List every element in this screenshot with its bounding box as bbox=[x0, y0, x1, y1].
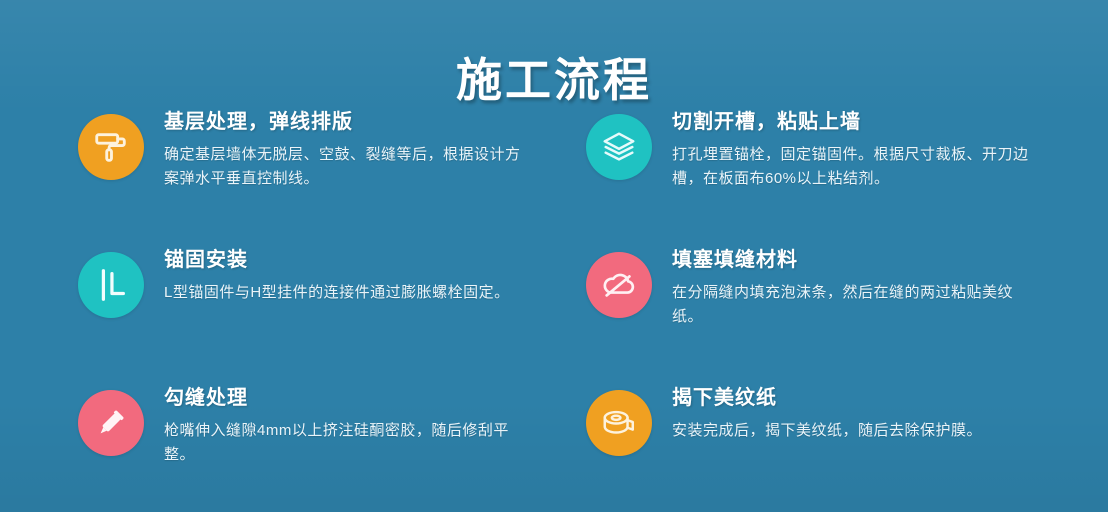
step-badge-3 bbox=[78, 252, 144, 318]
process-step-1: 基层处理，弹线排版 确定基层墙体无脱层、空鼓、裂缝等后，根据设计方案弹水平垂直控… bbox=[78, 108, 530, 224]
caulking-gun-icon bbox=[92, 404, 130, 442]
step-badge-1 bbox=[78, 114, 144, 180]
step-desc-1: 确定基层墙体无脱层、空鼓、裂缝等后，根据设计方案弹水平垂直控制线。 bbox=[164, 143, 524, 192]
step-badge-2 bbox=[586, 114, 652, 180]
step-title-5: 勾缝处理 bbox=[164, 386, 530, 410]
step-body-6: 揭下美纹纸 安装完成后，揭下美纹纸，随后去除保护膜。 bbox=[672, 384, 1038, 443]
page-title: 施工流程 bbox=[456, 55, 652, 106]
step-title-4: 填塞填缝材料 bbox=[672, 248, 1038, 272]
tape-roll-icon bbox=[600, 404, 638, 442]
step-title-3: 锚固安装 bbox=[164, 248, 530, 272]
step-title-6: 揭下美纹纸 bbox=[672, 386, 1038, 410]
step-body-5: 勾缝处理 枪嘴伸入缝隙4mm以上挤注硅酮密胶，随后修刮平整。 bbox=[164, 384, 530, 468]
step-desc-6: 安装完成后，揭下美纹纸，随后去除保护膜。 bbox=[672, 419, 1032, 443]
paint-roller-icon bbox=[92, 128, 130, 166]
layers-icon bbox=[600, 128, 638, 166]
process-step-6: 揭下美纹纸 安装完成后，揭下美纹纸，随后去除保护膜。 bbox=[586, 384, 1038, 500]
step-body-2: 切割开槽，粘贴上墙 打孔埋置锚栓，固定锚固件。根据尺寸裁板、开刀边槽，在板面布6… bbox=[672, 108, 1038, 192]
step-badge-4 bbox=[586, 252, 652, 318]
step-title-1: 基层处理，弹线排版 bbox=[164, 110, 530, 134]
step-title-2: 切割开槽，粘贴上墙 bbox=[672, 110, 1038, 134]
step-desc-2: 打孔埋置锚栓，固定锚固件。根据尺寸裁板、开刀边槽，在板面布60%以上粘结剂。 bbox=[672, 143, 1032, 192]
step-body-1: 基层处理，弹线排版 确定基层墙体无脱层、空鼓、裂缝等后，根据设计方案弹水平垂直控… bbox=[164, 108, 530, 192]
process-step-grid: 基层处理，弹线排版 确定基层墙体无脱层、空鼓、裂缝等后，根据设计方案弹水平垂直控… bbox=[78, 108, 1038, 500]
process-step-2: 切割开槽，粘贴上墙 打孔埋置锚栓，固定锚固件。根据尺寸裁板、开刀边槽，在板面布6… bbox=[586, 108, 1038, 224]
step-badge-5 bbox=[78, 390, 144, 456]
step-body-3: 锚固安装 L型锚固件与H型挂件的连接件通过膨胀螺栓固定。 bbox=[164, 246, 530, 305]
process-step-5: 勾缝处理 枪嘴伸入缝隙4mm以上挤注硅酮密胶，随后修刮平整。 bbox=[78, 384, 530, 500]
bottom-white-strip bbox=[0, 512, 1108, 518]
step-desc-5: 枪嘴伸入缝隙4mm以上挤注硅酮密胶，随后修刮平整。 bbox=[164, 419, 524, 468]
process-step-3: 锚固安装 L型锚固件与H型挂件的连接件通过膨胀螺栓固定。 bbox=[78, 246, 530, 362]
step-badge-6 bbox=[586, 390, 652, 456]
construction-process-poster: 施工流程 基层处理，弹线排版 确定基层墙体无脱层、空鼓、裂缝等后，根据设计方案弹… bbox=[0, 0, 1108, 512]
process-step-4: 填塞填缝材料 在分隔缝内填充泡沫条，然后在缝的两过粘贴美纹纸。 bbox=[586, 246, 1038, 362]
cloud-off-icon bbox=[600, 266, 638, 304]
step-body-4: 填塞填缝材料 在分隔缝内填充泡沫条，然后在缝的两过粘贴美纹纸。 bbox=[672, 246, 1038, 330]
step-desc-3: L型锚固件与H型挂件的连接件通过膨胀螺栓固定。 bbox=[164, 281, 524, 305]
l-bracket-icon bbox=[92, 266, 130, 304]
step-desc-4: 在分隔缝内填充泡沫条，然后在缝的两过粘贴美纹纸。 bbox=[672, 281, 1032, 330]
